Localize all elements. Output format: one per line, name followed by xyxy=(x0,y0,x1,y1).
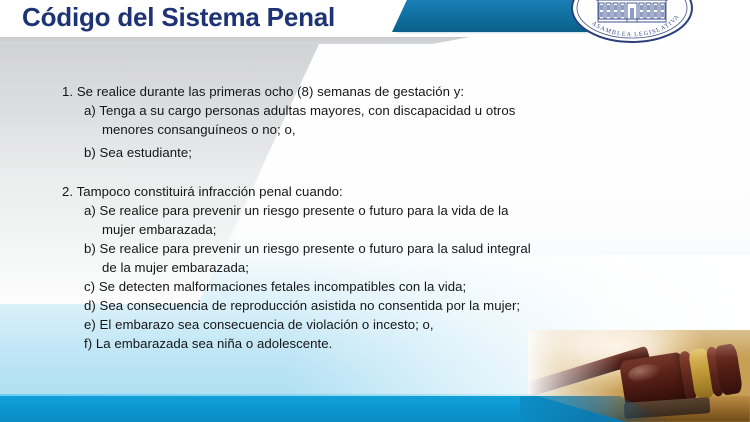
sub-item-letter: c) xyxy=(84,279,95,294)
sub-item-text: menores consanguíneos o no; o, xyxy=(102,122,296,137)
sub-item-line-cont: de la mujer embarazada; xyxy=(102,258,531,277)
sub-item-text: Se realice para prevenir un riesgo prese… xyxy=(100,241,531,256)
sub-item-text: Sea estudiante; xyxy=(100,145,192,160)
sub-item-text: Sea consecuencia de reproducción asistid… xyxy=(100,298,521,313)
sub-item-letter: a) xyxy=(84,103,96,118)
sub-item-letter: a) xyxy=(84,203,96,218)
sub-item-line: e) El embarazo sea consecuencia de viola… xyxy=(84,315,531,334)
list-item: 2. Tampoco constituirá infracción penal … xyxy=(62,182,531,353)
sub-item-line: a) Tenga a su cargo personas adultas may… xyxy=(84,101,515,120)
sub-item-letter: b) xyxy=(84,241,96,256)
list-item-text: Se realice durante las primeras ocho (8)… xyxy=(77,84,464,99)
list-item-line: 1. Se realice durante las primeras ocho … xyxy=(62,82,515,101)
sub-item-text: Se realice para prevenir un riesgo prese… xyxy=(100,203,509,218)
sub-item-line: c) Se detecten malformaciones fetales in… xyxy=(84,277,531,296)
sub-item-text: La embarazada sea niña o adolescente. xyxy=(96,336,332,351)
sub-item-line-cont: mujer embarazada; xyxy=(102,220,531,239)
sub-item-text: Se detecten malformaciones fetales incom… xyxy=(99,279,466,294)
sub-item-letter: f) xyxy=(84,336,92,351)
sub-item-line: b) Se realice para prevenir un riesgo pr… xyxy=(84,239,531,258)
list-item: 1. Se realice durante las primeras ocho … xyxy=(62,82,515,162)
sub-item-line: b) Sea estudiante; xyxy=(84,143,515,162)
sub-item-letter: e) xyxy=(84,317,96,332)
sub-item-letter: b) xyxy=(84,145,96,160)
list-item-line: 2. Tampoco constituirá infracción penal … xyxy=(62,182,531,201)
list-item-number: 1. xyxy=(62,84,73,99)
sub-item-line: a) Se realice para prevenir un riesgo pr… xyxy=(84,201,531,220)
sub-item-text: mujer embarazada; xyxy=(102,222,216,237)
sub-item-line-cont: menores consanguíneos o no; o, xyxy=(102,120,515,139)
list-item-number: 2. xyxy=(62,184,73,199)
sub-item-text: de la mujer embarazada; xyxy=(102,260,249,275)
sub-item-text: Tenga a su cargo personas adultas mayore… xyxy=(99,103,515,118)
sub-item-line: f) La embarazada sea niña o adolescente. xyxy=(84,334,531,353)
presentation-slide: Código del Sistema Penal xyxy=(0,0,750,422)
sub-item-line: d) Sea consecuencia de reproducción asis… xyxy=(84,296,531,315)
sub-item-letter: d) xyxy=(84,298,96,313)
sub-item-text: El embarazo sea consecuencia de violació… xyxy=(100,317,434,332)
list-item-text: Tampoco constituirá infracción penal cua… xyxy=(77,184,343,199)
